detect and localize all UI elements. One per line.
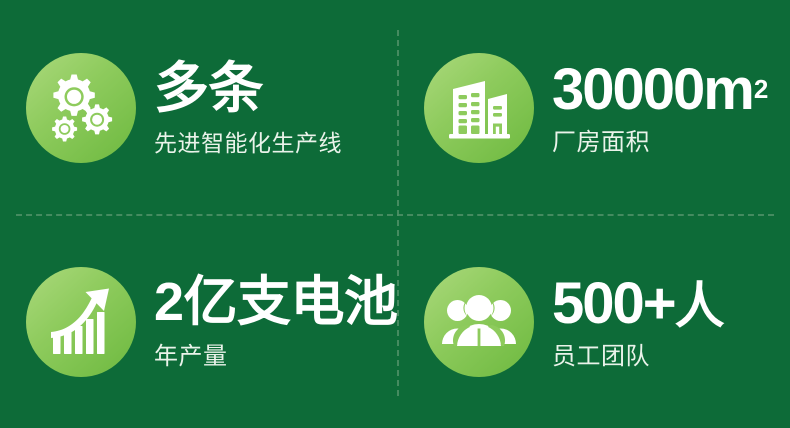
- stat-headline-annual-output: 2亿支电池: [154, 275, 398, 329]
- stat-headline-production-lines: 多条: [154, 61, 342, 116]
- stat-subline-staff-team: 员工团队: [552, 345, 724, 369]
- people-group-icon: [424, 267, 534, 377]
- stat-headline-staff-team: 500+人: [552, 275, 724, 333]
- vertical-divider: [397, 30, 399, 396]
- stat-subline-production-lines: 先进智能化生产线: [154, 132, 342, 155]
- growth-chart-icon: [26, 267, 136, 377]
- stat-headline-value: 多条: [154, 57, 263, 119]
- stat-headline-unit: 人: [675, 278, 725, 334]
- stat-text-staff-team: 500+人 员工团队: [552, 275, 724, 369]
- stat-text-production-lines: 多条 先进智能化生产线: [154, 61, 342, 155]
- stat-subline-factory-area: 厂房面积: [552, 131, 767, 155]
- gears-icon: [26, 53, 136, 163]
- stat-subline-annual-output: 年产量: [154, 345, 398, 369]
- stat-card-production-lines: 多条 先进智能化生产线: [0, 0, 398, 215]
- stat-headline-value: 500+: [552, 271, 675, 336]
- stat-card-staff-team: 500+人 员工团队: [398, 215, 790, 428]
- stat-card-annual-output: 2亿支电池 年产量: [0, 215, 398, 428]
- stat-card-factory-area: 30000m2 厂房面积: [398, 0, 790, 215]
- horizontal-divider: [16, 214, 774, 216]
- stat-headline-superscript: 2: [754, 74, 768, 104]
- stat-headline-value: 30000m: [552, 57, 753, 122]
- stat-text-factory-area: 30000m2 厂房面积: [552, 61, 767, 155]
- buildings-icon: [424, 53, 534, 163]
- stat-text-annual-output: 2亿支电池 年产量: [154, 275, 398, 369]
- stat-headline-value: 2亿支电池: [154, 272, 398, 332]
- stat-headline-factory-area: 30000m2: [552, 61, 767, 119]
